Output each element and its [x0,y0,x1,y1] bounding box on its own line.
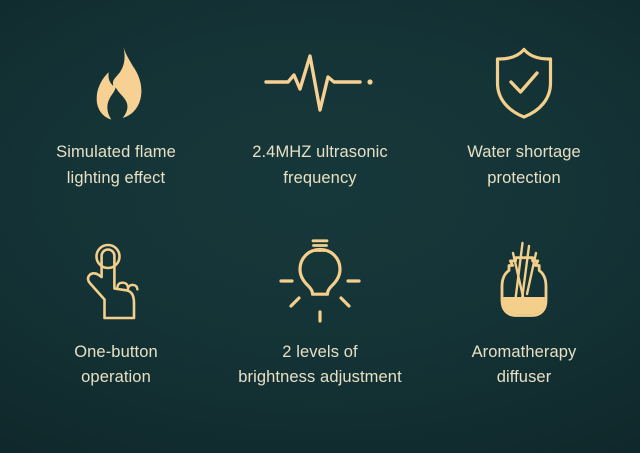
tap-hand-icon [71,238,161,324]
feature-highlights-panel: Simulated flame lighting effect 2.4MHZ u… [0,0,640,453]
shield-check-icon [479,40,569,126]
feature-label: Water shortage protection [467,140,581,191]
feature-item-brightness-levels: 2 levels of brightness adjustment [218,226,422,434]
feature-label: Simulated flame lighting effect [56,140,176,191]
feature-label: One-button operation [74,340,158,391]
ultrasonic-wave-icon [275,40,365,126]
feature-item-one-button-operation: One-button operation [14,226,218,434]
feature-label: Aromatherapy diffuser [472,340,577,391]
flame-icon [71,40,161,126]
feature-label: 2.4MHZ ultrasonic frequency [252,140,388,191]
light-bulb-brightness-icon [275,238,365,324]
feature-item-aromatherapy-diffuser: Aromatherapy diffuser [422,226,626,434]
feature-item-water-shortage-protection: Water shortage protection [422,18,626,226]
reed-diffuser-icon [479,238,569,324]
feature-label: 2 levels of brightness adjustment [238,340,402,391]
feature-item-ultrasonic-frequency: 2.4MHZ ultrasonic frequency [218,18,422,226]
feature-item-simulated-flame: Simulated flame lighting effect [14,18,218,226]
feature-grid: Simulated flame lighting effect 2.4MHZ u… [0,0,640,453]
